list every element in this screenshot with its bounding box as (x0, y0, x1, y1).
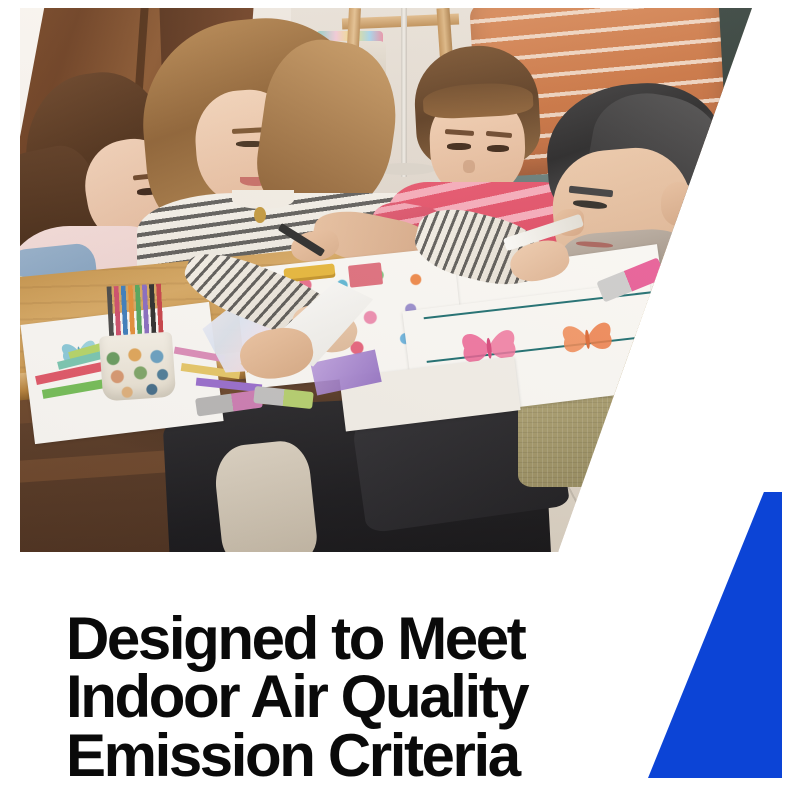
floor-lamp-pole (401, 8, 408, 177)
headline-line-1: Designed to Meet (66, 610, 626, 668)
marketing-card: Designed to Meet Indoor Air Quality Emis… (0, 0, 800, 800)
boy-nose (463, 160, 475, 173)
headline-line-3: Emission Criteria (66, 727, 626, 785)
woman-necklace (254, 207, 266, 223)
family-crafting-photo (20, 8, 752, 552)
blue-accent-wedge (648, 492, 782, 778)
boy-eye (487, 145, 509, 152)
gift-sticker (348, 262, 383, 287)
man-ear (661, 182, 698, 226)
page-title: Designed to Meet Indoor Air Quality Emis… (66, 610, 626, 785)
boy-eye (447, 143, 470, 150)
orange-butterfly-drawing (544, 303, 630, 371)
headline-line-2: Indoor Air Quality (66, 668, 626, 726)
cup-dot-pattern (99, 343, 176, 402)
knitted-sock (212, 439, 319, 552)
